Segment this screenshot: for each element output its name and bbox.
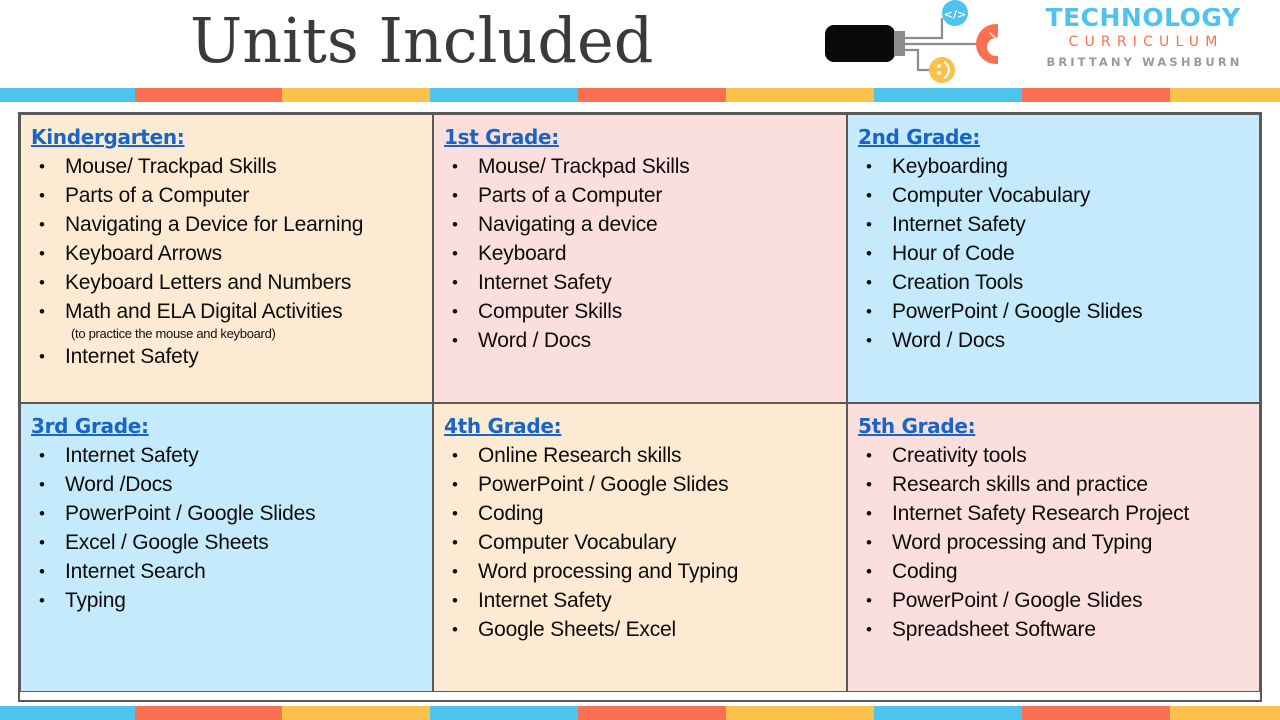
page-header: Units Included </>: [0, 0, 1280, 88]
stripe-segment-9: [1170, 88, 1280, 102]
grade-title-grade-3: 3rd Grade:: [31, 413, 424, 440]
unit-list-item: Google Sheets/ Excel: [444, 615, 838, 644]
grade-cell-grade-2: 2nd Grade:KeyboardingComputer Vocabulary…: [847, 114, 1260, 403]
unit-list-item: Creation Tools: [858, 268, 1251, 297]
stripe-segment-9: [1170, 706, 1280, 720]
unit-list-item: Computer Vocabulary: [444, 528, 838, 557]
grade-cell-grade-4: 4th Grade:Online Research skillsPowerPoi…: [433, 403, 847, 692]
units-table: Kindergarten:Mouse/ Trackpad SkillsParts…: [18, 112, 1262, 702]
grade-title-grade-4: 4th Grade:: [444, 413, 838, 440]
unit-list-item: Math and ELA Digital Activities: [31, 297, 424, 326]
stripe-segment-4: [430, 88, 578, 102]
brand-logo: </> TECHNOLOGY CURRICULUM BRITTANY WASHB…: [818, 0, 1280, 88]
stripe-segment-7: [874, 706, 1022, 720]
unit-list-item: Coding: [858, 557, 1251, 586]
unit-list-item: Internet Safety: [858, 210, 1251, 239]
unit-list-item: Word processing and Typing: [444, 557, 838, 586]
grade-cell-kindergarten: Kindergarten:Mouse/ Trackpad SkillsParts…: [20, 114, 433, 403]
svg-text:</>: </>: [944, 8, 966, 21]
logo-author-text: BRITTANY WASHBURN: [1006, 53, 1280, 71]
unit-list-item: Keyboarding: [858, 152, 1251, 181]
grade-cell-grade-3: 3rd Grade:Internet SafetyWord /DocsPower…: [20, 403, 433, 692]
unit-list-item: Parts of a Computer: [31, 181, 424, 210]
unit-list-item: PowerPoint / Google Slides: [31, 499, 424, 528]
unit-list-item: Navigating a device: [444, 210, 838, 239]
grade-title-grade-1: 1st Grade:: [444, 124, 838, 151]
logo-wordmark: TECHNOLOGY CURRICULUM BRITTANY WASHBURN: [1006, 4, 1280, 71]
unit-list-item: Word / Docs: [444, 326, 838, 355]
grade-title-grade-5: 5th Grade:: [858, 413, 1251, 440]
grade-title-kindergarten: Kindergarten:: [31, 124, 424, 151]
stripe-segment-4: [430, 706, 578, 720]
unit-list-item: Internet Safety: [31, 342, 424, 371]
unit-list-item: PowerPoint / Google Slides: [858, 297, 1251, 326]
unit-list-item: Keyboard: [444, 239, 838, 268]
unit-list-item: Creativity tools: [858, 441, 1251, 470]
unit-list-item: PowerPoint / Google Slides: [444, 470, 838, 499]
stripe-segment-1: [0, 88, 135, 102]
logo-curriculum-text: CURRICULUM: [1006, 31, 1280, 53]
stripe-segment-8: [1022, 88, 1170, 102]
unit-list-item: Parts of a Computer: [444, 181, 838, 210]
unit-list-note: (to practice the mouse and keyboard): [31, 326, 424, 342]
unit-list-kindergarten: Mouse/ Trackpad SkillsParts of a Compute…: [31, 152, 424, 371]
unit-list-grade-3: Internet SafetyWord /DocsPowerPoint / Go…: [31, 441, 424, 615]
stripe-segment-6: [726, 88, 874, 102]
unit-list-item: Internet Safety Research Project: [858, 499, 1251, 528]
unit-list-item: Keyboard Letters and Numbers: [31, 268, 424, 297]
unit-list-item: Internet Safety: [31, 441, 424, 470]
unit-list-grade-2: KeyboardingComputer VocabularyInternet S…: [858, 152, 1251, 355]
unit-list-item: Internet Safety: [444, 586, 838, 615]
page-title: Units Included: [190, 2, 653, 80]
unit-list-item: Word processing and Typing: [858, 528, 1251, 557]
stripe-segment-2: [135, 88, 282, 102]
unit-list-item: Research skills and practice: [858, 470, 1251, 499]
grade-cell-grade-5: 5th Grade:Creativity toolsResearch skill…: [847, 403, 1260, 692]
unit-list-item: Excel / Google Sheets: [31, 528, 424, 557]
logo-mark-graphic: </>: [818, 0, 998, 88]
unit-list-item: Online Research skills: [444, 441, 838, 470]
unit-list-item: Spreadsheet Software: [858, 615, 1251, 644]
stripe-segment-7: [874, 88, 1022, 102]
stripe-segment-6: [726, 706, 874, 720]
unit-list-grade-4: Online Research skillsPowerPoint / Googl…: [444, 441, 838, 644]
stripe-segment-8: [1022, 706, 1170, 720]
stripe-segment-3: [282, 88, 430, 102]
unit-list-grade-1: Mouse/ Trackpad SkillsParts of a Compute…: [444, 152, 838, 355]
unit-list-item: Computer Vocabulary: [858, 181, 1251, 210]
stripe-segment-5: [578, 88, 726, 102]
unit-list-item: Word /Docs: [31, 470, 424, 499]
grade-cell-grade-1: 1st Grade:Mouse/ Trackpad SkillsParts of…: [433, 114, 847, 403]
stripe-segment-1: [0, 706, 135, 720]
unit-list-item: Typing: [31, 586, 424, 615]
unit-list-item: Coding: [444, 499, 838, 528]
decorative-stripe-bottom: [0, 706, 1280, 720]
unit-list-item: Hour of Code: [858, 239, 1251, 268]
unit-list-item: Internet Search: [31, 557, 424, 586]
unit-list-item: Navigating a Device for Learning: [31, 210, 424, 239]
unit-list-item: Mouse/ Trackpad Skills: [31, 152, 424, 181]
unit-list-grade-5: Creativity toolsResearch skills and prac…: [858, 441, 1251, 644]
stripe-segment-2: [135, 706, 282, 720]
logo-technology-text: TECHNOLOGY: [1006, 4, 1280, 31]
unit-list-item: Internet Safety: [444, 268, 838, 297]
unit-list-item: Mouse/ Trackpad Skills: [444, 152, 838, 181]
unit-list-item: Computer Skills: [444, 297, 838, 326]
stripe-segment-5: [578, 706, 726, 720]
decorative-stripe-top: [0, 88, 1280, 102]
stripe-segment-3: [282, 706, 430, 720]
unit-list-item: Keyboard Arrows: [31, 239, 424, 268]
grade-title-grade-2: 2nd Grade:: [858, 124, 1251, 151]
unit-list-item: Word / Docs: [858, 326, 1251, 355]
unit-list-item: PowerPoint / Google Slides: [858, 586, 1251, 615]
